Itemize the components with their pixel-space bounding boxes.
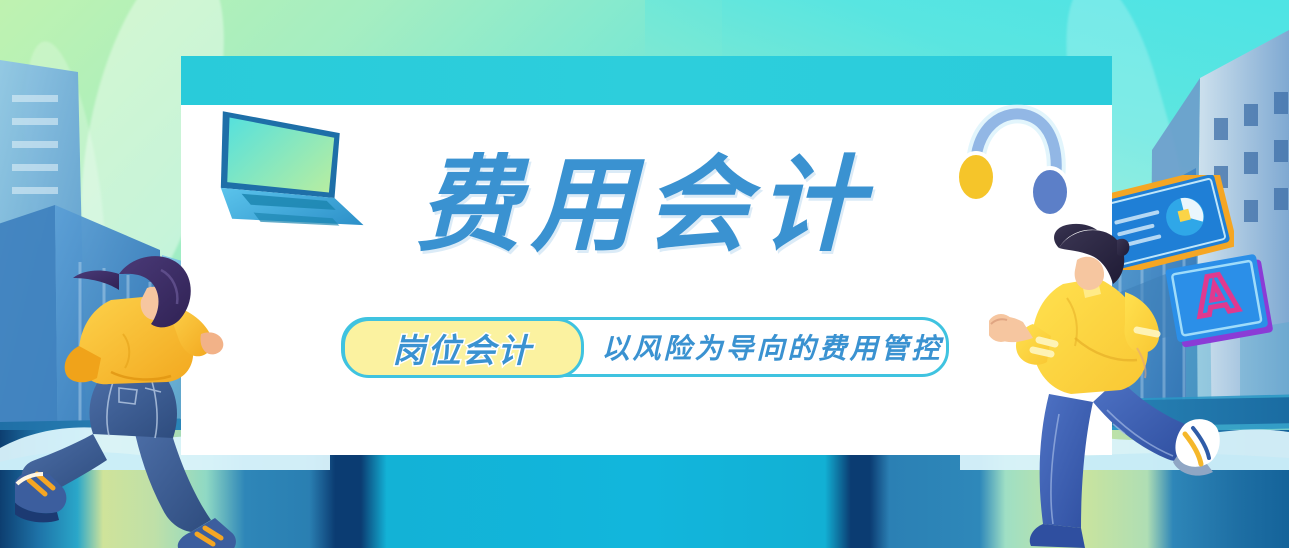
- running-man-illustration: [989, 218, 1259, 548]
- running-woman-illustration: [15, 248, 285, 548]
- tagline-text: 以风险为导向的费用管控: [602, 320, 943, 374]
- subtitle-bar: 岗位会计 以风险为导向的费用管控: [341, 317, 949, 377]
- course-banner: A: [0, 0, 1289, 548]
- badge-label: 岗位会计: [393, 324, 533, 372]
- badge-position-accounting: 岗位会计: [342, 318, 584, 378]
